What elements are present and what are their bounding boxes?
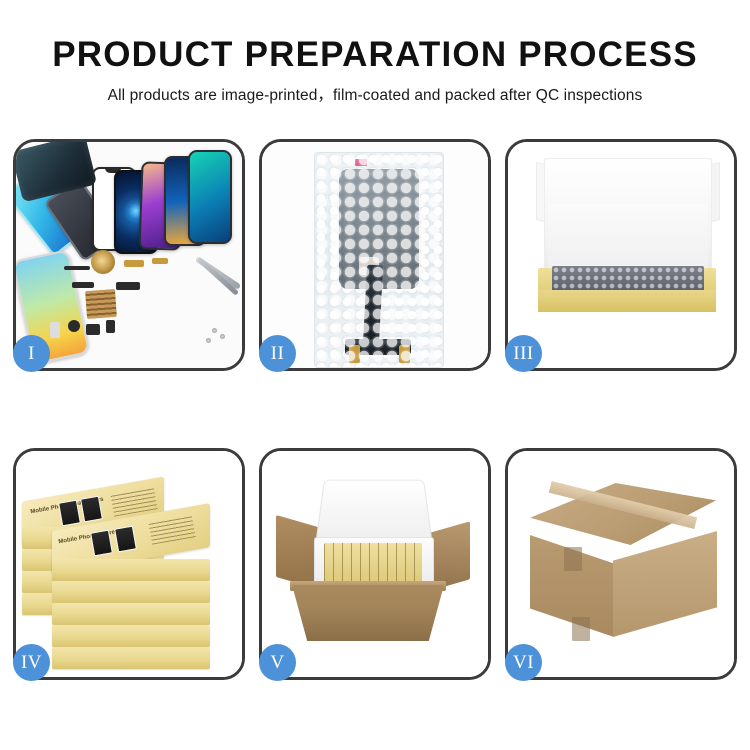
vibration-motor-icon	[106, 320, 115, 333]
carton-seam-tab	[572, 617, 590, 641]
retail-box-edge	[52, 647, 210, 669]
packed-retail-boxes	[324, 543, 422, 585]
tweezers-arm-icon	[197, 257, 239, 296]
step-5-image	[262, 451, 488, 677]
carton-with-foam-box-illustration	[262, 451, 488, 677]
step-3-badge: III	[505, 335, 542, 372]
step-4-image: Mobile Phone Spare Parts Mobile Phone Sp…	[16, 451, 242, 677]
bubble-wrapped-lcd-illustration	[262, 142, 488, 368]
connector-grid-chip-icon	[85, 289, 117, 319]
process-step-6-panel: VI	[505, 448, 737, 680]
open-tray-with-foam-illustration	[508, 142, 734, 368]
bubble-texture-overlay	[315, 153, 443, 367]
carton-seam-tab	[564, 547, 582, 571]
screw-icon	[212, 328, 217, 333]
power-button-flex-icon	[152, 258, 168, 264]
retail-box-edge	[52, 625, 210, 647]
page-subtitle: All products are image-printed，film-coat…	[0, 83, 750, 105]
process-step-2-panel: II	[259, 139, 491, 371]
step-3-image	[508, 142, 734, 368]
box-window-phone-icon	[80, 496, 103, 523]
page-header: PRODUCT PREPARATION PROCESS All products…	[0, 34, 750, 105]
box-window-phone-icon	[90, 530, 113, 557]
box-window-phone-icon	[114, 526, 137, 553]
flex-cable-icon	[124, 260, 144, 267]
page-title: PRODUCT PREPARATION PROCESS	[0, 34, 750, 76]
screw-icon	[206, 338, 211, 343]
small-connector-icon	[72, 282, 94, 288]
antenna-strip-icon	[64, 266, 90, 270]
teal-gradient-phone-icon	[188, 150, 232, 244]
process-step-4-panel: Mobile Phone Spare Parts Mobile Phone Sp…	[13, 448, 245, 680]
step-1-image	[16, 142, 242, 368]
bubble-wrap-bag	[314, 152, 444, 368]
box-window-phone-icon	[58, 500, 81, 527]
kraft-tray-front-wall	[538, 290, 716, 312]
speaker-icon	[68, 320, 80, 332]
camera-module-icon	[86, 324, 100, 335]
sim-tray-icon	[50, 322, 60, 338]
grey-bubble-padding	[552, 266, 704, 292]
step-6-badge: VI	[505, 644, 542, 681]
retail-box-edge	[52, 581, 210, 603]
process-step-3-panel: III	[505, 139, 737, 371]
process-step-1-panel: I	[13, 139, 245, 371]
white-foam-sheet	[548, 204, 708, 270]
step-1-badge: I	[13, 335, 50, 372]
screw-icon	[220, 334, 225, 339]
step-5-badge: V	[259, 644, 296, 681]
carton-right-face	[613, 531, 717, 637]
product-preparation-process-page: PRODUCT PREPARATION PROCESS All products…	[0, 0, 750, 750]
step-2-badge: II	[259, 335, 296, 372]
retail-box-edge	[52, 559, 210, 581]
phone-screens-and-parts-illustration	[16, 142, 242, 368]
step-2-image	[262, 142, 488, 368]
step-6-image	[508, 451, 734, 677]
step-4-badge: IV	[13, 644, 50, 681]
sealed-shipping-carton-illustration	[508, 451, 734, 677]
retail-box-edge	[52, 603, 210, 625]
process-step-5-panel: V	[259, 448, 491, 680]
carton-body	[292, 585, 444, 641]
ribbon-cable-icon	[116, 282, 140, 290]
process-steps-grid: I II	[13, 139, 737, 680]
foam-box-lid	[315, 480, 432, 543]
speaker-coil-icon	[91, 250, 115, 274]
stacked-retail-boxes-illustration: Mobile Phone Spare Parts Mobile Phone Sp…	[16, 451, 242, 677]
